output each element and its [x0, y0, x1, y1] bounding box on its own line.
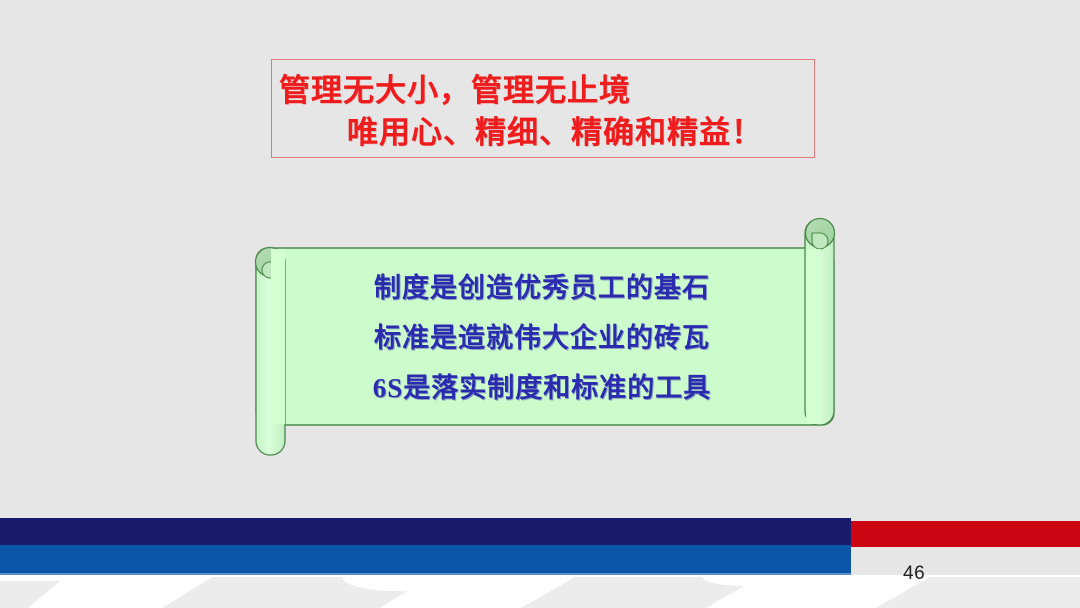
- title-line-2: 唯用心、精细、精确和精益！: [347, 111, 763, 155]
- scroll-seam-right: [806, 249, 820, 424]
- slide-canvas: 管理无大小，管理无止境 唯用心、精细、精确和精益！: [0, 0, 1080, 608]
- scroll-shape: [240, 205, 850, 470]
- scroll-seam-left: [271, 249, 285, 424]
- scroll-svg: [240, 205, 850, 470]
- title-box: 管理无大小，管理无止境 唯用心、精细、精确和精益！: [271, 59, 815, 158]
- scroll-right-curl-inner: [812, 233, 828, 249]
- title-line-1: 管理无大小，管理无止境: [279, 69, 631, 113]
- scroll-body: [256, 248, 834, 425]
- page-number: 46: [903, 563, 925, 585]
- footer-bar-blue: [0, 545, 851, 573]
- footer-bar-red: [851, 521, 1080, 547]
- footer-bar-navy: [0, 518, 851, 545]
